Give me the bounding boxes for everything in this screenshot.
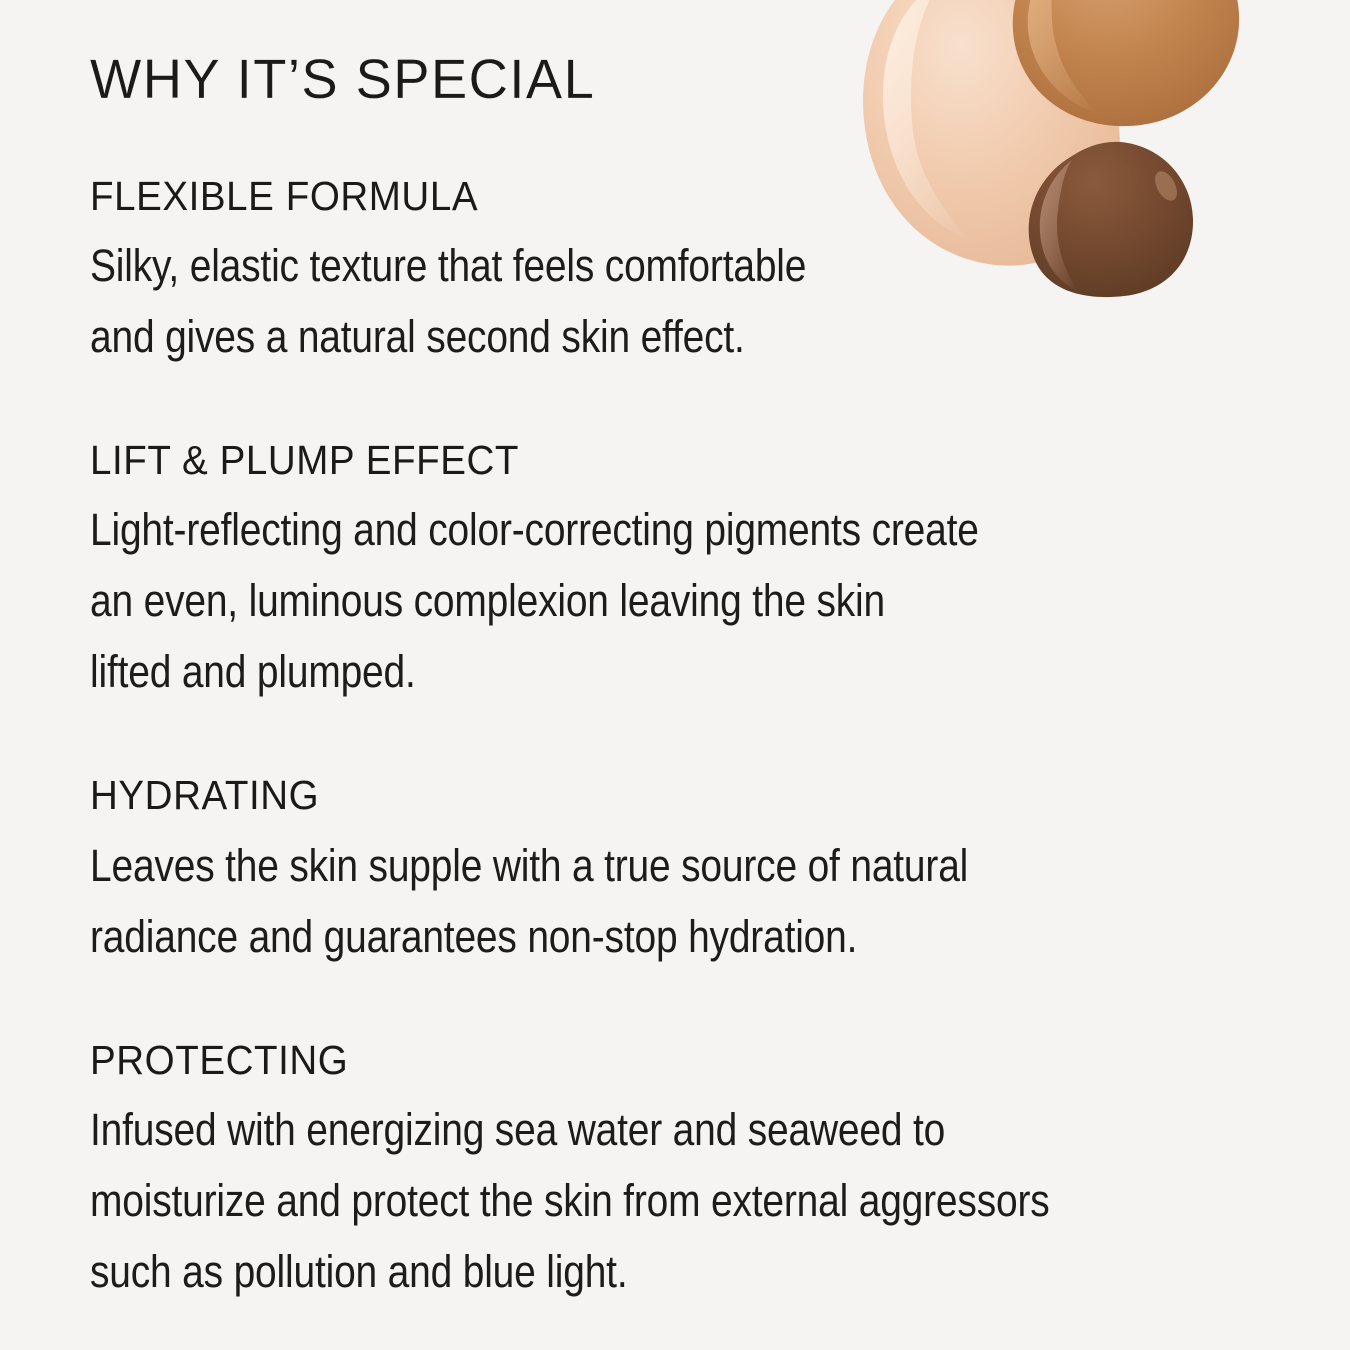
benefit-section-hydrating: HYDRATING Leaves the skin supple with a … bbox=[90, 771, 1290, 971]
benefit-heading: HYDRATING bbox=[90, 771, 1218, 819]
benefit-section-flexible-formula: FLEXIBLE FORMULA Silky, elastic texture … bbox=[90, 172, 1290, 372]
benefits-text-column: WHY IT’S SPECIAL FLEXIBLE FORMULA Silky,… bbox=[90, 0, 1290, 1307]
benefit-heading: FLEXIBLE FORMULA bbox=[90, 172, 1218, 220]
benefit-body: Leaves the skin supple with a true sourc… bbox=[90, 830, 1128, 972]
benefit-body: Infused with energizing sea water and se… bbox=[90, 1094, 1128, 1307]
benefit-body: Silky, elastic texture that feels comfor… bbox=[90, 230, 1128, 372]
benefit-heading: LIFT & PLUMP EFFECT bbox=[90, 436, 1218, 484]
benefit-section-protecting: PROTECTING Infused with energizing sea w… bbox=[90, 1036, 1290, 1307]
page-title: WHY IT’S SPECIAL bbox=[90, 0, 1254, 110]
product-benefits-panel: WHY IT’S SPECIAL FLEXIBLE FORMULA Silky,… bbox=[0, 0, 1350, 1350]
benefit-body: Light-reflecting and color-correcting pi… bbox=[90, 494, 1128, 707]
benefit-heading: PROTECTING bbox=[90, 1036, 1218, 1084]
benefit-section-lift-and-plump-effect: LIFT & PLUMP EFFECT Light-reflecting and… bbox=[90, 436, 1290, 707]
